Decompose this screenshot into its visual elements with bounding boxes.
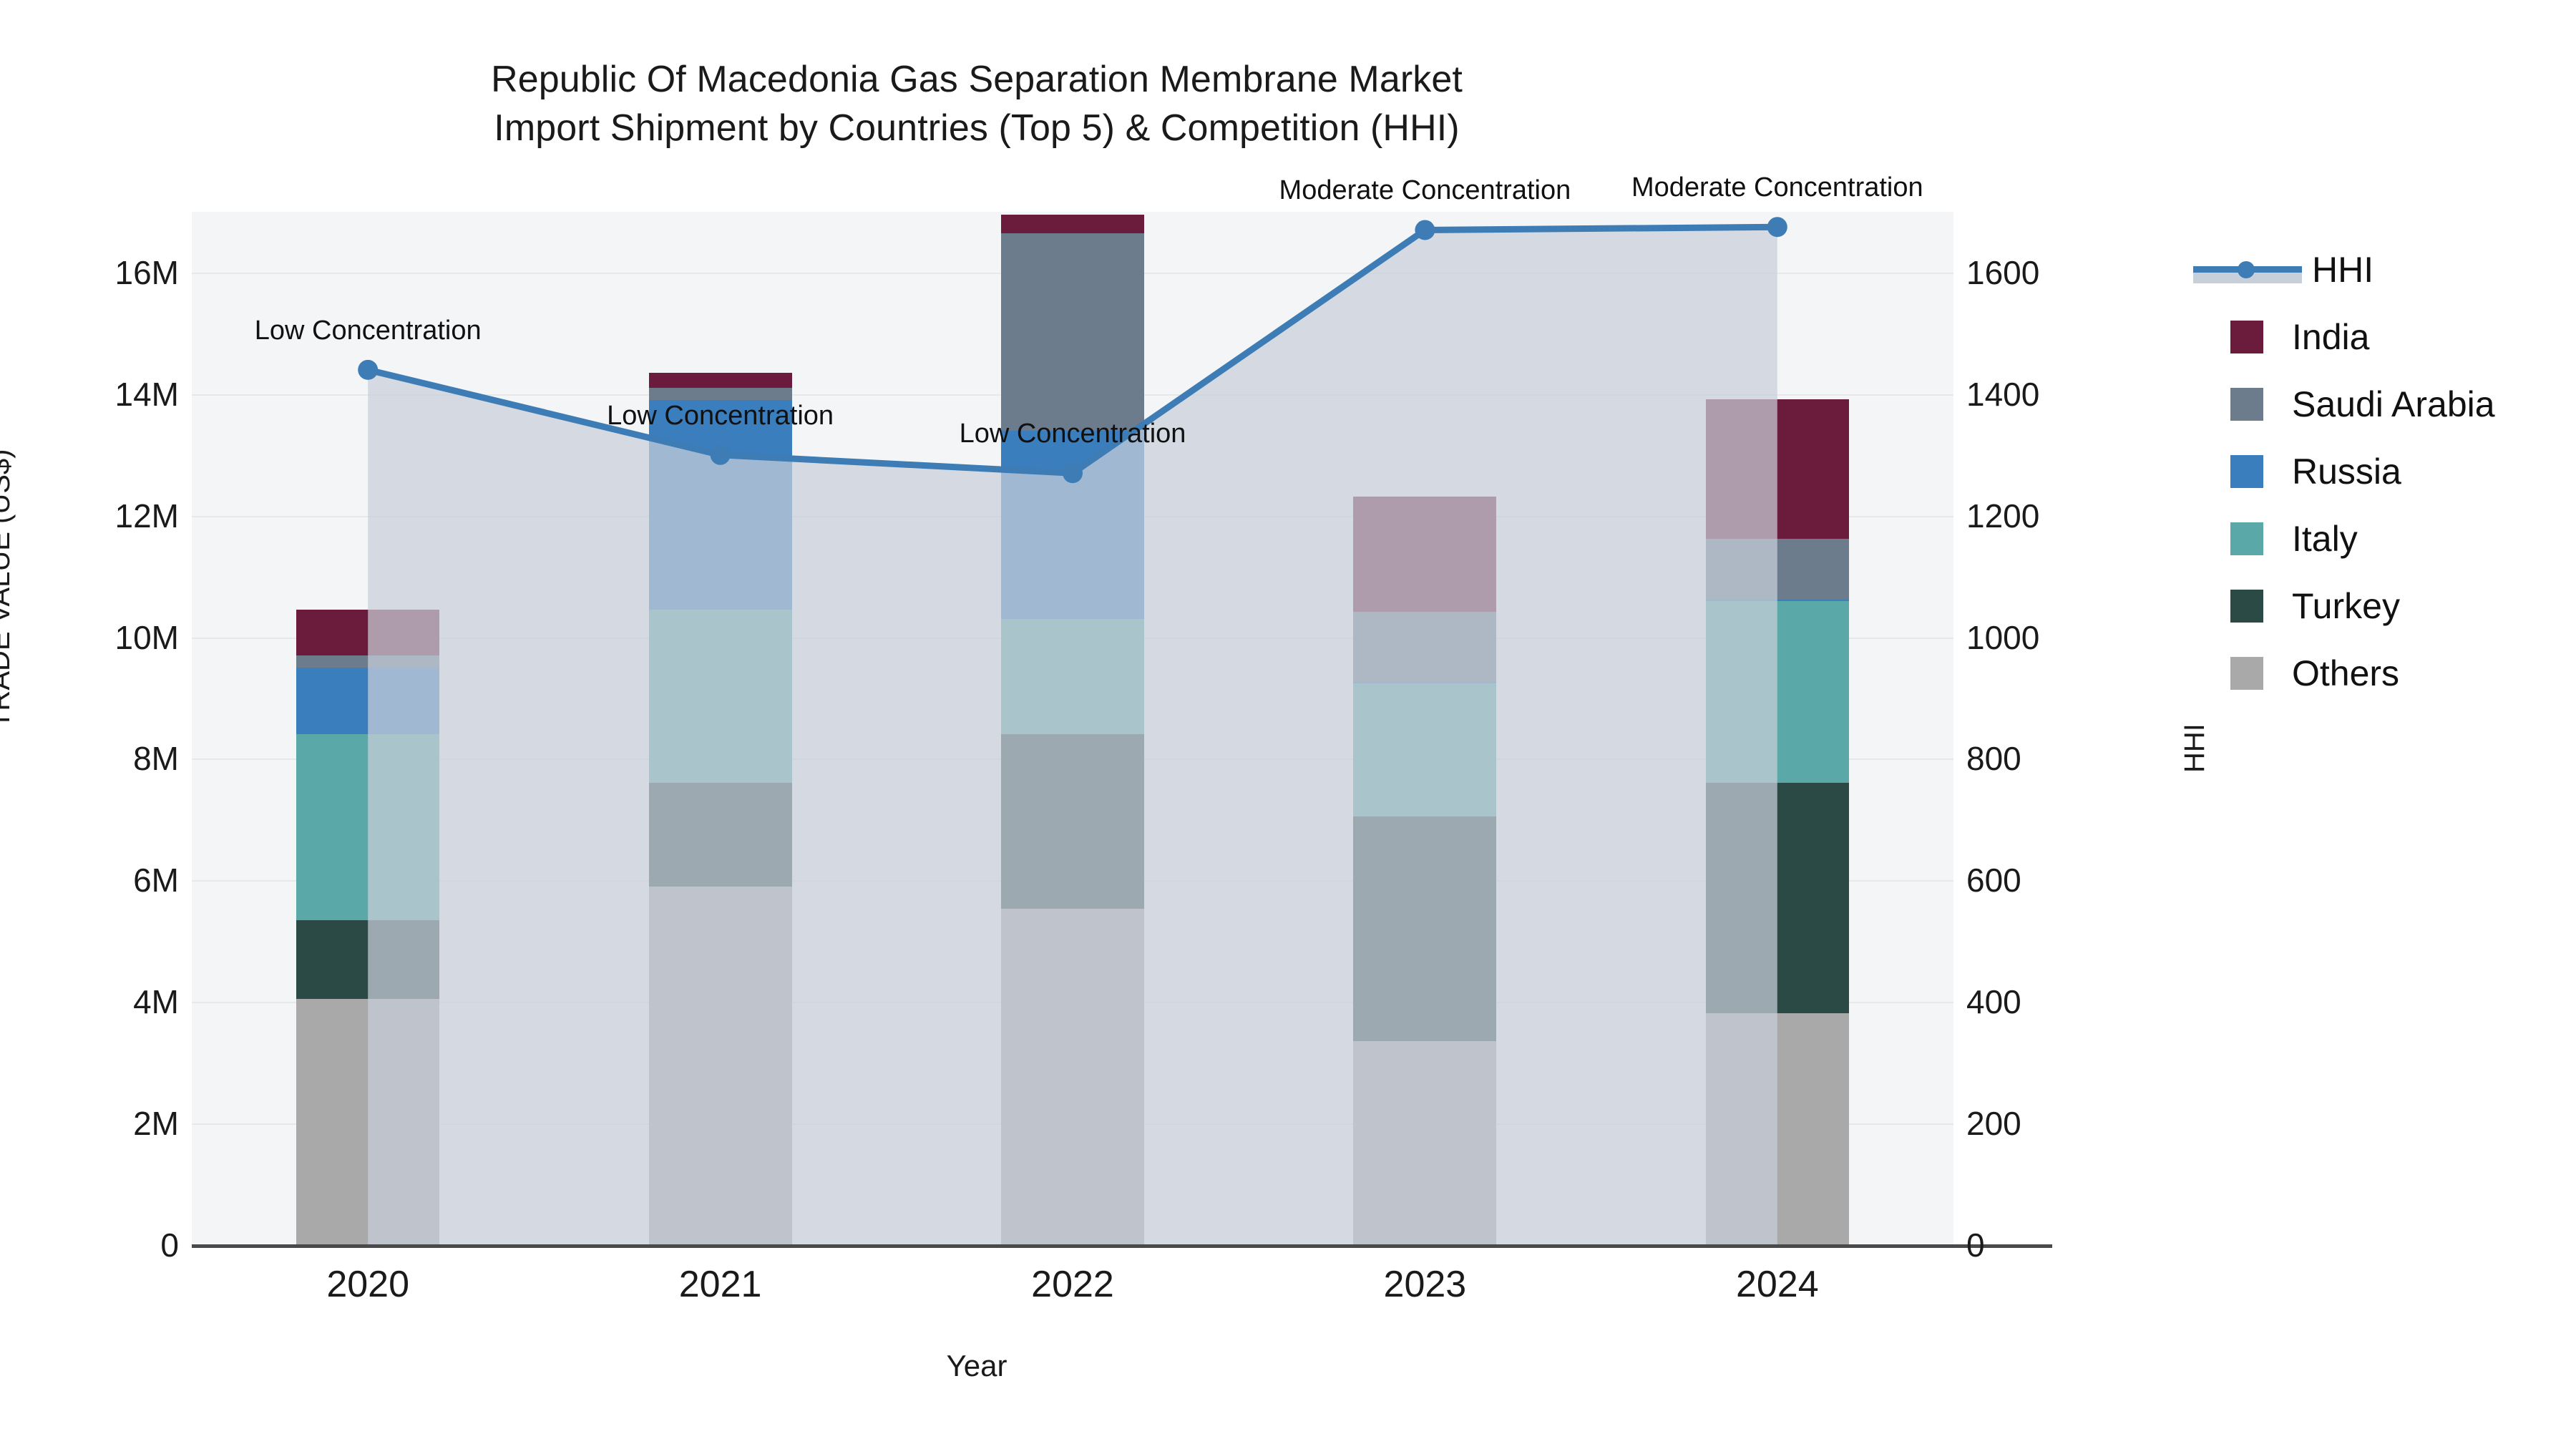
x-axis-tick-label-2024: 2024 bbox=[1736, 1263, 1819, 1306]
legend-item-others[interactable]: Others bbox=[2193, 640, 2565, 707]
y-axis-right-label: HHI bbox=[2179, 723, 2211, 773]
y-axis-left-tick-label: 12M bbox=[0, 497, 179, 535]
bar-segment-saudi-arabia[interactable] bbox=[1706, 539, 1849, 600]
bar-segment-russia[interactable] bbox=[1706, 600, 1849, 601]
x-axis-label: Year bbox=[0, 1349, 1953, 1383]
bar-segment-others[interactable] bbox=[649, 887, 792, 1245]
chart-title: Republic Of Macedonia Gas Separation Mem… bbox=[0, 56, 1953, 152]
legend-item-label: HHI bbox=[2312, 249, 2373, 291]
y-axis-right-tick-label: 1400 bbox=[1966, 375, 2039, 414]
legend-color-swatch-icon bbox=[2230, 590, 2263, 623]
bar-stack[interactable] bbox=[1001, 212, 1144, 1245]
y-axis-left-tick-label: 2M bbox=[0, 1104, 179, 1143]
chart-root: Republic Of Macedonia Gas Separation Mem… bbox=[0, 0, 2576, 1449]
y-axis-right-tick-label: 1200 bbox=[1966, 497, 2039, 535]
y-axis-right-tick-label: 1000 bbox=[1966, 618, 2039, 657]
concentration-annotation: Moderate Concentration bbox=[1279, 175, 1571, 206]
legend-item-hhi[interactable]: HHI bbox=[2193, 236, 2565, 303]
bar-segment-turkey[interactable] bbox=[649, 783, 792, 886]
legend-item-label: Others bbox=[2292, 653, 2399, 694]
y-axis-left-tick-label: 0 bbox=[0, 1226, 179, 1264]
bar-segment-saudi-arabia[interactable] bbox=[1353, 612, 1496, 682]
chart-title-line-2: Import Shipment by Countries (Top 5) & C… bbox=[0, 104, 1953, 153]
x-axis-tick-label-2021: 2021 bbox=[679, 1263, 762, 1306]
legend-item-label: Turkey bbox=[2292, 585, 2400, 627]
x-axis-tick-label-2022: 2022 bbox=[1031, 1263, 1114, 1306]
x-axis-tick-label-2020: 2020 bbox=[326, 1263, 409, 1306]
plot-area: Low ConcentrationLow ConcentrationLow Co… bbox=[192, 212, 1953, 1245]
bar-stack[interactable] bbox=[296, 212, 439, 1245]
y-axis-left-tick-label: 10M bbox=[0, 618, 179, 657]
y-axis-right-tick-label: 600 bbox=[1966, 861, 2021, 899]
legend-item-label: Russia bbox=[2292, 451, 2401, 492]
bar-segment-italy[interactable] bbox=[1353, 683, 1496, 816]
chart-title-line-1: Republic Of Macedonia Gas Separation Mem… bbox=[0, 56, 1953, 104]
bar-segment-russia[interactable] bbox=[1353, 682, 1496, 683]
bar-segment-russia[interactable] bbox=[296, 668, 439, 734]
concentration-annotation: Low Concentration bbox=[607, 401, 834, 431]
bar-segment-italy[interactable] bbox=[1706, 601, 1849, 784]
y-axis-right-tick-label: 200 bbox=[1966, 1104, 2021, 1143]
bar-stack[interactable] bbox=[1706, 212, 1849, 1245]
legend-color-swatch-icon bbox=[2230, 657, 2263, 690]
bar-segment-turkey[interactable] bbox=[1001, 734, 1144, 909]
legend-item-russia[interactable]: Russia bbox=[2193, 438, 2565, 505]
legend: HHIIndiaSaudi ArabiaRussiaItalyTurkeyOth… bbox=[2193, 236, 2565, 707]
bar-segment-russia[interactable] bbox=[1001, 431, 1144, 619]
bar-segment-italy[interactable] bbox=[649, 610, 792, 783]
y-axis-right-tick-label: 400 bbox=[1966, 982, 2021, 1021]
legend-color-swatch-icon bbox=[2230, 522, 2263, 555]
legend-line-dot-icon bbox=[2238, 261, 2255, 278]
bar-segment-saudi-arabia[interactable] bbox=[1001, 233, 1144, 431]
y-axis-right-tick-label: 0 bbox=[1966, 1226, 1985, 1264]
legend-item-label: India bbox=[2292, 316, 2369, 358]
concentration-annotation: Low Concentration bbox=[255, 316, 482, 346]
bar-segment-india[interactable] bbox=[649, 373, 792, 388]
bar-segment-italy[interactable] bbox=[1001, 619, 1144, 734]
bar-segment-turkey[interactable] bbox=[1706, 783, 1849, 1013]
bar-segment-saudi-arabia[interactable] bbox=[296, 655, 439, 668]
legend-item-label: Italy bbox=[2292, 518, 2358, 560]
legend-item-india[interactable]: India bbox=[2193, 303, 2565, 371]
bar-segment-saudi-arabia[interactable] bbox=[649, 388, 792, 400]
bar-segment-india[interactable] bbox=[1353, 497, 1496, 612]
bar-stack[interactable] bbox=[1353, 212, 1496, 1245]
bar-segment-india[interactable] bbox=[1001, 215, 1144, 233]
concentration-annotation: Low Concentration bbox=[960, 419, 1186, 449]
bar-segment-italy[interactable] bbox=[296, 734, 439, 919]
concentration-annotation: Moderate Concentration bbox=[1631, 172, 1923, 203]
bar-segment-turkey[interactable] bbox=[296, 920, 439, 999]
legend-color-swatch-icon bbox=[2230, 321, 2263, 353]
y-axis-left-tick-label: 14M bbox=[0, 375, 179, 414]
bar-segment-others[interactable] bbox=[1706, 1013, 1849, 1245]
y-axis-left-tick-label: 4M bbox=[0, 982, 179, 1021]
bar-segment-russia[interactable] bbox=[649, 400, 792, 610]
legend-color-swatch-icon bbox=[2230, 388, 2263, 421]
legend-line-marker-icon bbox=[2193, 253, 2302, 286]
y-axis-left-tick-label: 16M bbox=[0, 253, 179, 292]
bar-segment-others[interactable] bbox=[296, 999, 439, 1245]
bar-segment-turkey[interactable] bbox=[1353, 816, 1496, 1041]
y-axis-right-tick-label: 1600 bbox=[1966, 253, 2039, 292]
x-axis-line bbox=[192, 1244, 2052, 1248]
y-axis-left-tick-label: 6M bbox=[0, 861, 179, 899]
bar-segment-india[interactable] bbox=[296, 610, 439, 655]
legend-item-italy[interactable]: Italy bbox=[2193, 505, 2565, 572]
y-axis-left-label: TRADE VALUE (US$) bbox=[0, 449, 16, 728]
bar-stack[interactable] bbox=[649, 212, 792, 1245]
legend-item-saudi-arabia[interactable]: Saudi Arabia bbox=[2193, 371, 2565, 438]
y-axis-left-tick-label: 8M bbox=[0, 739, 179, 778]
y-axis-right-tick-label: 800 bbox=[1966, 739, 2021, 778]
bar-segment-others[interactable] bbox=[1001, 909, 1144, 1245]
legend-item-label: Saudi Arabia bbox=[2292, 384, 2495, 425]
x-axis-tick-label-2023: 2023 bbox=[1384, 1263, 1467, 1306]
bar-segment-india[interactable] bbox=[1706, 399, 1849, 539]
bar-segment-others[interactable] bbox=[1353, 1041, 1496, 1245]
legend-color-swatch-icon bbox=[2230, 455, 2263, 488]
legend-item-turkey[interactable]: Turkey bbox=[2193, 572, 2565, 640]
